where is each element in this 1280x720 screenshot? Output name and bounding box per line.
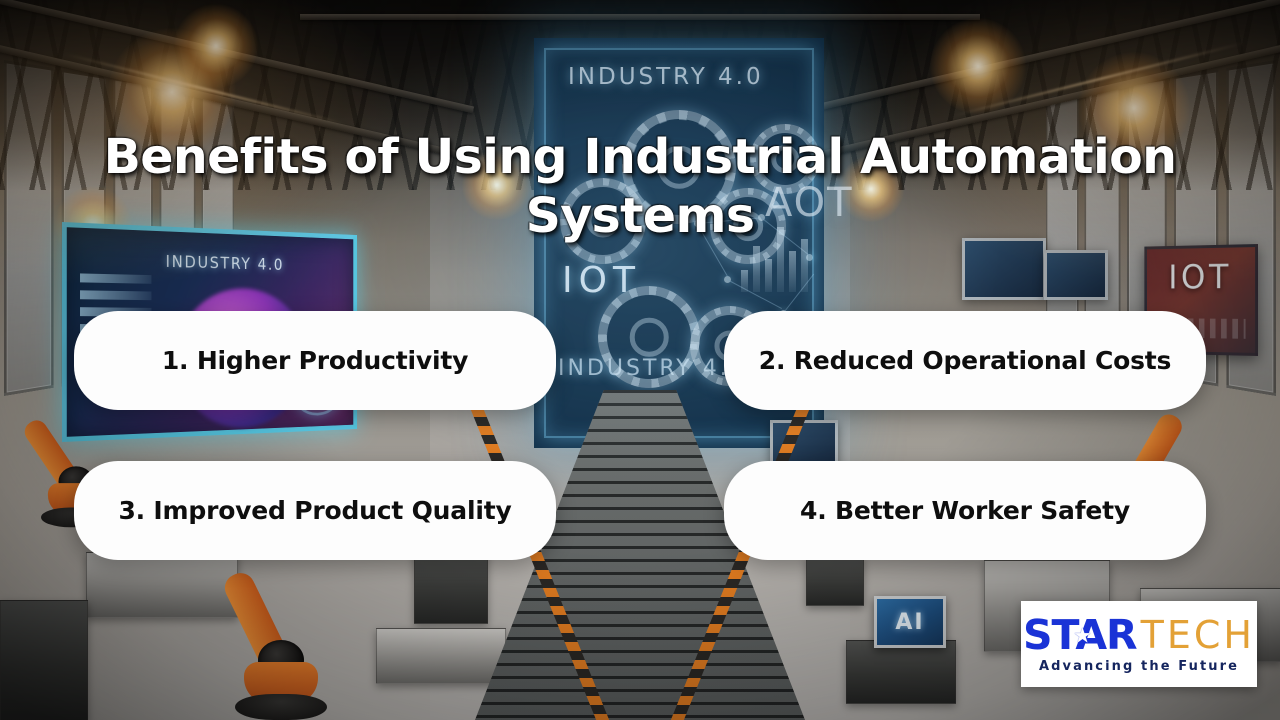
benefit-card-label: 3. Improved Product Quality: [118, 496, 511, 525]
benefit-card-2[interactable]: 2. Reduced Operational Costs: [724, 311, 1206, 410]
logo-primary-word: STAR ★: [1023, 615, 1137, 656]
benefit-card-label: 1. Higher Productivity: [162, 346, 468, 375]
benefit-card-label: 2. Reduced Operational Costs: [759, 346, 1171, 375]
benefit-card-4[interactable]: 4. Better Worker Safety: [724, 461, 1206, 560]
page-title: Benefits of Using Industrial Automation …: [0, 128, 1280, 245]
logo-secondary-word: TECH: [1141, 616, 1255, 654]
brand-logo[interactable]: STAR ★ TECH Advancing the Future: [1021, 601, 1257, 687]
logo-wordmark: STAR ★ TECH: [1023, 615, 1255, 656]
poster-content: Benefits of Using Industrial Automation …: [0, 0, 1280, 720]
benefits-card-grid: 1. Higher Productivity 2. Reduced Operat…: [74, 311, 1206, 560]
benefit-card-1[interactable]: 1. Higher Productivity: [74, 311, 556, 410]
logo-primary-text: STAR: [1023, 611, 1137, 659]
benefit-card-3[interactable]: 3. Improved Product Quality: [74, 461, 556, 560]
benefit-card-label: 4. Better Worker Safety: [800, 496, 1130, 525]
infographic-poster: INDUSTRY 4.0 IOT INDUSTRY 4.0 AOT I: [0, 0, 1280, 720]
logo-tagline: Advancing the Future: [1039, 659, 1239, 674]
